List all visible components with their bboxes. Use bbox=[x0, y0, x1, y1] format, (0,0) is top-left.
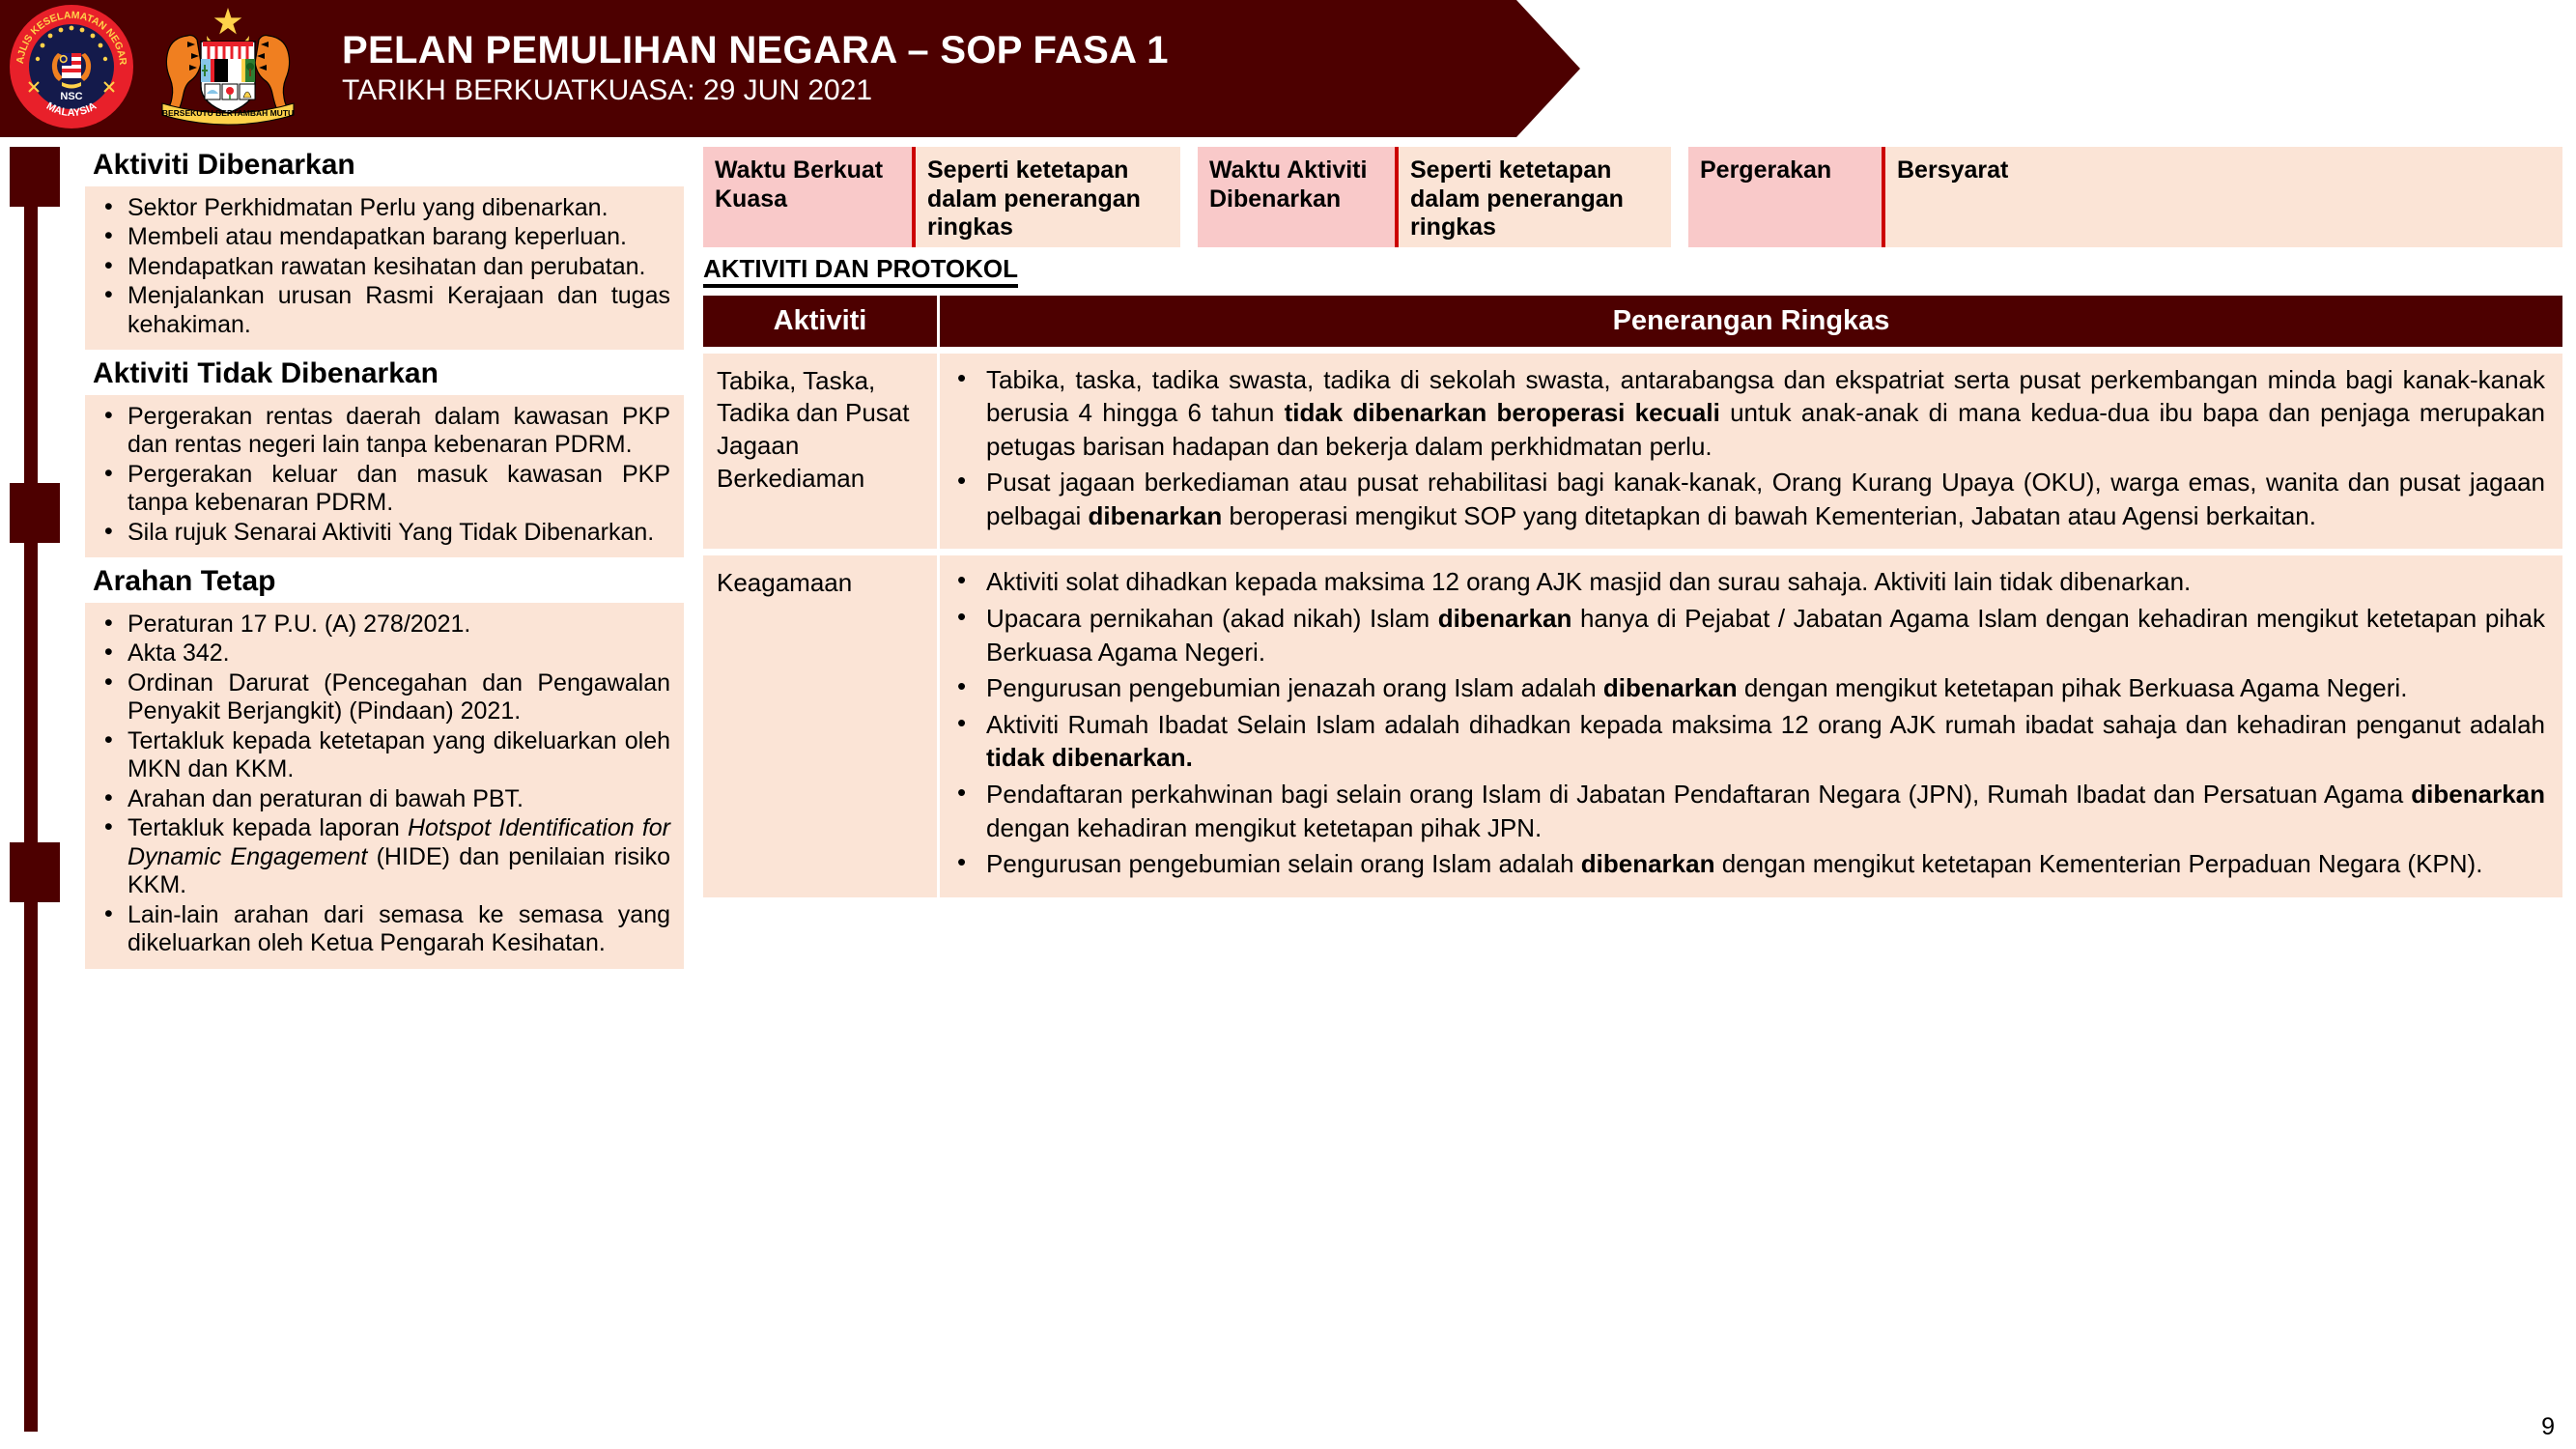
list-item: Ordinan Darurat (Pencegahan dan Pengawal… bbox=[99, 669, 670, 726]
row-gap bbox=[703, 549, 2562, 555]
info-value-waktu-aktiviti-dibenarkan: Seperti ketetapan dalam penerangan ringk… bbox=[1399, 147, 1671, 247]
info-key-waktu-aktiviti-dibenarkan: Waktu Aktiviti Dibenarkan bbox=[1198, 147, 1399, 247]
list-item-text: Tertakluk kepada laporan Hotspot Identif… bbox=[127, 814, 670, 898]
timeline-node-3 bbox=[10, 842, 60, 902]
row-gap bbox=[703, 347, 2562, 354]
sidebar: Aktiviti Dibenarkan Sektor Perkhidmatan … bbox=[85, 147, 684, 969]
table-head: Aktiviti Penerangan Ringkas bbox=[703, 296, 2562, 347]
list-item: Arahan dan peraturan di bawah PBT. bbox=[99, 785, 670, 814]
sidebar-section-arahan-tetap: Arahan Tetap Peraturan 17 P.U. (A) 278/2… bbox=[85, 563, 684, 969]
sidebar-list: Sektor Perkhidmatan Perlu yang dibenarka… bbox=[99, 194, 670, 340]
table-body: Tabika, Taska, Tadika dan Pusat Jagaan B… bbox=[703, 347, 2562, 897]
cell-activity-name: Tabika, Taska, Tadika dan Pusat Jagaan B… bbox=[703, 354, 940, 550]
sidebar-section-body: Peraturan 17 P.U. (A) 278/2021. Akta 342… bbox=[85, 603, 684, 969]
sidebar-list: Peraturan 17 P.U. (A) 278/2021. Akta 342… bbox=[99, 611, 670, 958]
list-item: Tertakluk kepada ketetapan yang dikeluar… bbox=[99, 727, 670, 784]
list-item: Akta 342. bbox=[99, 639, 670, 668]
list-item: Lain-lain arahan dari semasa ke semasa y… bbox=[99, 901, 670, 958]
mkn-nsc-malaysia-seal-icon: NSC MAJLIS KESELAMATAN NEGARA MALAYSIA bbox=[8, 3, 135, 135]
list-item: Pergerakan keluar dan masuk kawasan PKP … bbox=[99, 461, 670, 518]
cell-activity-description: Tabika, taska, tadika swasta, tadika di … bbox=[940, 354, 2562, 550]
svg-text:BERSEKUTU BERTAMBAH MUTU: BERSEKUTU BERTAMBAH MUTU bbox=[162, 108, 294, 118]
timeline-rail bbox=[24, 147, 38, 1432]
table-row: Keagamaan Aktiviti solat dihadkan kepada… bbox=[703, 555, 2562, 896]
list-item: Mendapatkan rawatan kesihatan dan peruba… bbox=[99, 253, 670, 282]
table-header-row: Aktiviti Penerangan Ringkas bbox=[703, 296, 2562, 347]
section-caption: AKTIVITI DAN PROTOKOL bbox=[703, 255, 1018, 288]
cell-activity-description: Aktiviti solat dihadkan kepada maksima 1… bbox=[940, 555, 2562, 896]
list-item: Sila rujuk Senarai Aktiviti Yang Tidak D… bbox=[99, 519, 670, 548]
sidebar-section-heading: Arahan Tetap bbox=[85, 563, 684, 603]
sidebar-section-heading: Aktiviti Tidak Dibenarkan bbox=[85, 355, 684, 395]
sop-table: Aktiviti Penerangan Ringkas Tabika, Task… bbox=[703, 296, 2562, 897]
list-item: Pendaftaran perkahwinan bagi selain oran… bbox=[949, 778, 2545, 844]
header-banner: NSC MAJLIS KESELAMATAN NEGARA MALAYSIA bbox=[0, 0, 1580, 137]
effective-date: TARIKH BERKUATKUASA: 29 JUN 2021 bbox=[342, 74, 1169, 108]
list-item: Sektor Perkhidmatan Perlu yang dibenarka… bbox=[99, 194, 670, 223]
column-header-aktiviti: Aktiviti bbox=[703, 296, 940, 347]
list-item: Pergerakan rentas daerah dalam kawasan P… bbox=[99, 403, 670, 460]
timeline-node-1 bbox=[10, 147, 60, 207]
list-item: Tabika, taska, tadika swasta, tadika di … bbox=[949, 363, 2545, 464]
info-strip: Waktu Berkuat Kuasa Seperti ketetapan da… bbox=[703, 147, 2562, 247]
list-item: Aktiviti Rumah Ibadat Selain Islam adala… bbox=[949, 708, 2545, 775]
list-item: Pengurusan pengebumian selain orang Isla… bbox=[949, 847, 2545, 881]
banner-text-group: PELAN PEMULIHAN NEGARA – SOP FASA 1 TARI… bbox=[342, 30, 1169, 108]
emblem-group: NSC MAJLIS KESELAMATAN NEGARA MALAYSIA bbox=[8, 3, 315, 135]
sidebar-section-body: Pergerakan rentas daerah dalam kawasan P… bbox=[85, 395, 684, 558]
list-item: Upacara pernikahan (akad nikah) Islam di… bbox=[949, 602, 2545, 668]
sidebar-section-heading: Aktiviti Dibenarkan bbox=[85, 147, 684, 186]
list-item: Peraturan 17 P.U. (A) 278/2021. bbox=[99, 611, 670, 639]
info-value-waktu-berkuat-kuasa: Seperti ketetapan dalam penerangan ringk… bbox=[916, 147, 1180, 247]
list-item: Menjalankan urusan Rasmi Kerajaan dan tu… bbox=[99, 282, 670, 339]
timeline-node-2 bbox=[10, 483, 60, 543]
list-item: Pusat jagaan berkediaman atau pusat reha… bbox=[949, 466, 2545, 532]
info-value-pergerakan: Bersyarat bbox=[1885, 147, 2562, 247]
sidebar-section-aktiviti-dibenarkan: Aktiviti Dibenarkan Sektor Perkhidmatan … bbox=[85, 147, 684, 350]
page-title: PELAN PEMULIHAN NEGARA – SOP FASA 1 bbox=[342, 30, 1169, 71]
info-key-pergerakan: Pergerakan bbox=[1688, 147, 1885, 247]
sidebar-section-body: Sektor Perkhidmatan Perlu yang dibenarka… bbox=[85, 186, 684, 351]
cell-activity-name: Keagamaan bbox=[703, 555, 940, 896]
sidebar-section-aktiviti-tidak-dibenarkan: Aktiviti Tidak Dibenarkan Pergerakan ren… bbox=[85, 355, 684, 557]
table-row: Tabika, Taska, Tadika dan Pusat Jagaan B… bbox=[703, 354, 2562, 550]
info-key-waktu-berkuat-kuasa: Waktu Berkuat Kuasa bbox=[703, 147, 916, 247]
column-header-penerangan-ringkas: Penerangan Ringkas bbox=[940, 296, 2562, 347]
list-item: Pengurusan pengebumian jenazah orang Isl… bbox=[949, 671, 2545, 705]
svg-text:NSC: NSC bbox=[60, 91, 82, 102]
list-item: Membeli atau mendapatkan barang keperlua… bbox=[99, 223, 670, 252]
description-list: Tabika, taska, tadika swasta, tadika di … bbox=[949, 363, 2545, 533]
main-content: Waktu Berkuat Kuasa Seperti ketetapan da… bbox=[703, 147, 2562, 897]
sidebar-list: Pergerakan rentas daerah dalam kawasan P… bbox=[99, 403, 670, 548]
malaysia-coat-of-arms-icon: BERSEKUTU BERTAMBAH MUTU bbox=[141, 3, 315, 135]
page-number: 9 bbox=[2541, 1413, 2555, 1441]
description-list: Aktiviti solat dihadkan kepada maksima 1… bbox=[949, 565, 2545, 880]
list-item: Tertakluk kepada laporan Hotspot Identif… bbox=[99, 814, 670, 900]
list-item: Aktiviti solat dihadkan kepada maksima 1… bbox=[949, 565, 2545, 599]
